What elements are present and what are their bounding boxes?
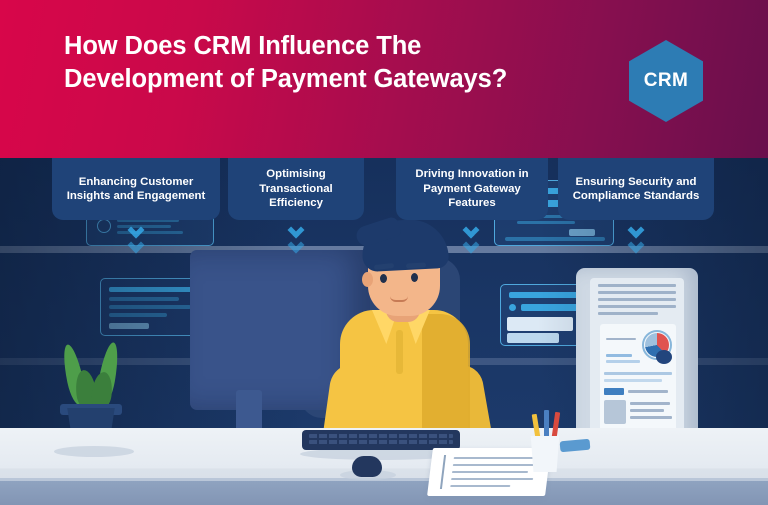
topic-box-optimising-transactional-efficiency[interactable]: Optimising Transactional Efficiency: [228, 158, 364, 220]
chevron-down-icon: [288, 237, 305, 254]
plant-shadow: [54, 446, 134, 457]
arrow-group-3: [465, 224, 477, 254]
computer-mouse: [352, 456, 382, 477]
crm-logo-text: CRM: [644, 70, 688, 92]
topic-box-enhancing-customer-insights[interactable]: Enhancing Customer Insights and Engageme…: [52, 158, 220, 220]
infographic-canvas: How Does CRM Influence The Development o…: [0, 0, 768, 505]
hexagon-icon: CRM: [629, 40, 703, 122]
topic-box-ensuring-security[interactable]: Ensuring Security and Compliamce Standar…: [558, 158, 714, 220]
person-illustration: [318, 214, 488, 454]
crm-logo-badge: CRM: [629, 40, 703, 122]
arrow-group-4: [630, 224, 642, 254]
person-shirt-placket: [396, 330, 403, 374]
desk-front-panel: [0, 481, 768, 505]
page-title: How Does CRM Influence The Development o…: [64, 30, 534, 95]
chevron-down-icon: [128, 237, 145, 254]
header-banner: How Does CRM Influence The Development o…: [0, 0, 768, 158]
board-document-card: [600, 324, 676, 432]
person-ear: [362, 272, 373, 287]
topic-box-driving-innovation[interactable]: Driving Innovation in Payment Gateway Fe…: [396, 158, 548, 220]
keyboard: [302, 430, 460, 450]
pencil-cup: [528, 436, 562, 472]
arrow-group-1: [130, 224, 142, 254]
person-eye-right: [411, 273, 418, 282]
chevron-down-icon: [628, 237, 645, 254]
person-eyebrow-right: [406, 262, 426, 268]
arrow-group-2: [290, 224, 302, 254]
person-eye-left: [380, 274, 387, 283]
chevron-down-icon: [463, 237, 480, 254]
topic-box-row: Enhancing Customer Insights and Engageme…: [0, 158, 768, 224]
